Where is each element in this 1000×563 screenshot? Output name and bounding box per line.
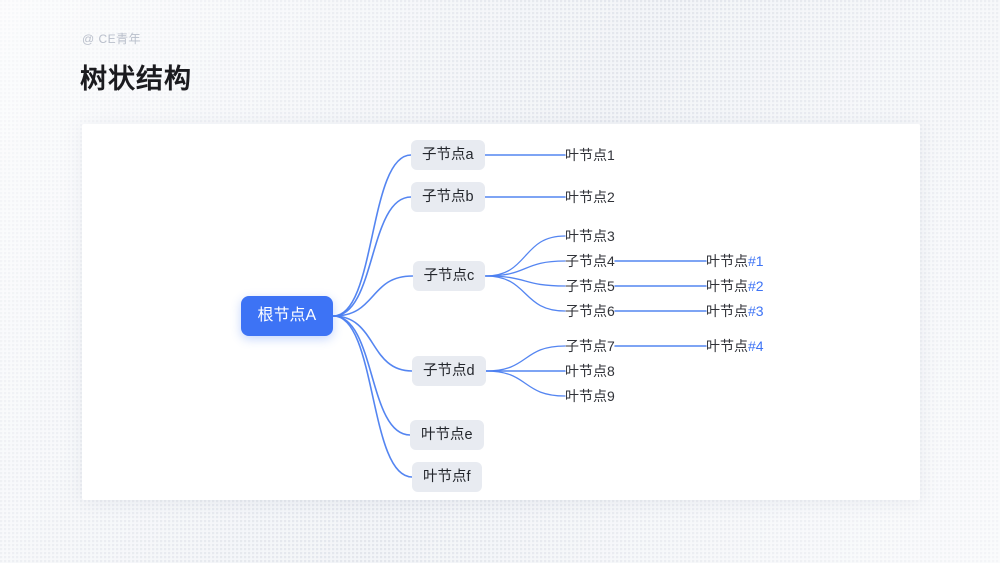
tree-node-a[interactable]: 子节点a: [411, 140, 485, 171]
tree-node-label: 叶节点3: [565, 228, 615, 244]
tree-node-l3[interactable]: 叶节点3: [565, 229, 615, 243]
tree-node-l1[interactable]: 叶节点1: [565, 148, 615, 162]
tree-node-label: 叶节点8: [565, 363, 615, 379]
tree-node-e[interactable]: 叶节点e: [410, 420, 484, 451]
tree-node-label: 叶节点f: [423, 469, 471, 485]
tree-node-label: 叶节点: [706, 253, 748, 269]
tree-node-label: 叶节点1: [565, 147, 615, 163]
tree-node-l9[interactable]: 叶节点9: [565, 389, 615, 403]
tree-node-label: 叶节点2: [565, 189, 615, 205]
tree-node-label: 子节点c: [424, 268, 475, 284]
tree-node-hash: #3: [748, 303, 764, 319]
slide-canvas: @ CE青年 树状结构 根节点A子节点a子节点b子节点c子节点d叶节点e叶节点f…: [0, 0, 1000, 563]
tree-node-label: 叶节点: [706, 303, 748, 319]
diagram-card: [82, 124, 920, 500]
tree-node-label: 根节点A: [258, 307, 317, 324]
tree-node-c5[interactable]: 子节点5: [565, 279, 615, 293]
tree-node-h4[interactable]: 叶节点#4: [706, 339, 764, 353]
tree-node-c4[interactable]: 子节点4: [565, 254, 615, 268]
tree-node-c7[interactable]: 子节点7: [565, 339, 615, 353]
tree-node-label: 子节点7: [565, 338, 615, 354]
tree-node-hash: #1: [748, 253, 764, 269]
tree-node-hash: #4: [748, 338, 764, 354]
tree-node-label: 子节点4: [565, 253, 615, 269]
tree-node-label: 叶节点e: [421, 427, 473, 443]
tree-node-l2[interactable]: 叶节点2: [565, 190, 615, 204]
tree-node-l8[interactable]: 叶节点8: [565, 364, 615, 378]
tree-node-label: 叶节点: [706, 338, 748, 354]
tree-node-h2[interactable]: 叶节点#2: [706, 279, 764, 293]
tree-node-label: 叶节点9: [565, 388, 615, 404]
tree-node-label: 子节点d: [423, 363, 475, 379]
tree-node-root[interactable]: 根节点A: [241, 296, 334, 336]
tree-node-c6[interactable]: 子节点6: [565, 304, 615, 318]
tree-node-hash: #2: [748, 278, 764, 294]
tree-node-h1[interactable]: 叶节点#1: [706, 254, 764, 268]
tree-node-label: 子节点b: [422, 189, 474, 205]
tree-node-b[interactable]: 子节点b: [411, 182, 485, 213]
tree-node-label: 叶节点: [706, 278, 748, 294]
tree-node-label: 子节点5: [565, 278, 615, 294]
watermark-label: @ CE青年: [82, 30, 141, 47]
tree-node-f[interactable]: 叶节点f: [412, 462, 482, 493]
tree-node-label: 子节点6: [565, 303, 615, 319]
page-title: 树状结构: [80, 57, 192, 96]
tree-node-c[interactable]: 子节点c: [413, 261, 486, 292]
tree-node-label: 子节点a: [422, 147, 474, 163]
tree-node-d[interactable]: 子节点d: [412, 356, 486, 387]
tree-node-h3[interactable]: 叶节点#3: [706, 304, 764, 318]
